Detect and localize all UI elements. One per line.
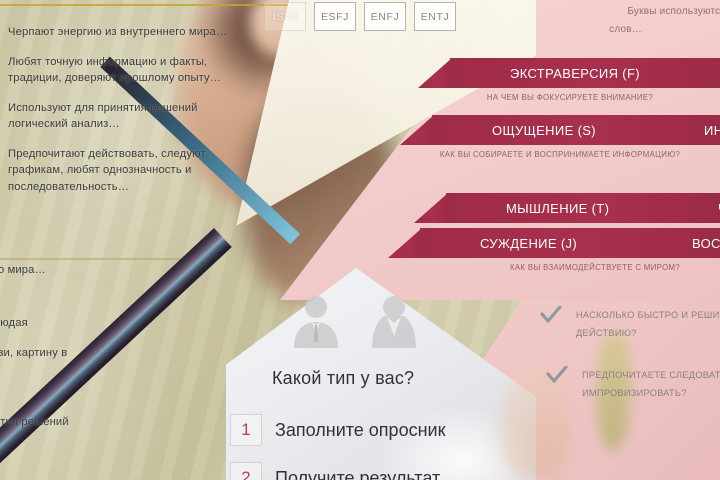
- checklist-line-1: НАСКОЛЬКО БЫСТРО И РЕШИТЕЛЬНО ВЫ ПЕРЕХОД…: [576, 310, 720, 320]
- top-divider-rule: [0, 4, 300, 6]
- dichotomy-subtitle: КАК ВЫ СОБИРАЕТЕ И ВОСПРИНИМАЕТЕ ИНФОРМА…: [0, 150, 720, 159]
- left-text-column-lower: …внешнего мира… …ию, наблюдая …аимосвязи…: [0, 262, 212, 480]
- check-icon: [540, 306, 562, 329]
- female-avatar-icon: [366, 292, 422, 353]
- checklist-line-2: ИМПРОВИЗИРОВАТЬ?: [582, 388, 687, 398]
- step-number: 1: [230, 414, 262, 446]
- dichotomy-bar: ЭКСТРАВЕРСИЯ (F) ИНТРОВЕРСИЯ (I): [450, 58, 720, 88]
- cta-step-1[interactable]: 1 Заполните опросник: [230, 414, 445, 446]
- dichotomy-left-label: МЫШЛЕНИЕ (T): [506, 201, 609, 216]
- dichotomy-row-sn: ОЩУЩЕНИЕ (S) ИНТУИЦИЯ (N) КАК ВЫ СОБИРАЕ…: [0, 115, 720, 159]
- mbti-type-box-group: ISTJ ESFJ ENFJ ENTJ: [264, 2, 456, 31]
- dichotomy-right-label: ВОСПРИЯТИЕ (P): [692, 236, 720, 251]
- left-text-line: …ию, наблюдая: [0, 315, 212, 332]
- check-icon: [546, 366, 568, 389]
- cta-title: Какой тип у вас?: [272, 368, 414, 389]
- mbti-type-box-entj[interactable]: ENTJ: [414, 2, 456, 31]
- dichotomy-right-label: ИНТУИЦИЯ (N): [704, 123, 720, 138]
- left-text-line: …се принятия решений: [0, 414, 212, 431]
- checklist-line-1: ПРЕДПОЧИТАЕТЕ СЛЕДОВАТЬ ПЛАНУ ИЛИ: [582, 370, 720, 380]
- dichotomy-subtitle: КАК ВЫ ВЗАИМОДЕЙСТВУЕТЕ С МИРОМ?: [0, 263, 720, 272]
- checklist-line-2: ДЕЙСТВИЮ?: [576, 328, 637, 338]
- dichotomy-left-label: ОЩУЩЕНИЕ (S): [492, 123, 596, 138]
- cta-step-2[interactable]: 2 Получите результат: [230, 462, 440, 480]
- mbti-type-box-enfj[interactable]: ENFJ: [364, 2, 406, 31]
- left-text-line: графикам, любят однозначность и: [8, 162, 260, 179]
- male-avatar-icon: [288, 292, 344, 353]
- left-text-line: …аимосвязи, картину в: [0, 345, 212, 362]
- header-line-1: Буквы используются: [627, 6, 720, 17]
- mbti-type-box-esfj[interactable]: ESFJ: [314, 2, 356, 31]
- dichotomy-left-label: СУЖДЕНИЕ (J): [480, 236, 577, 251]
- poster-canvas: Черпают энергию из внутреннего мира… Люб…: [0, 0, 720, 480]
- left-text-line: Черпают энергию из внутреннего мира…: [8, 24, 260, 41]
- step-label: Заполните опросник: [275, 420, 445, 441]
- avatar-group: [288, 292, 422, 353]
- checklist-text: ПРЕДПОЧИТАЕТЕ СЛЕДОВАТЬ ПЛАНУ ИЛИ ИМПРОВ…: [582, 365, 720, 401]
- dichotomy-subtitle: НА ЧЕМ ВЫ ФОКУСИРУЕТЕ ВНИМАНИЕ?: [0, 93, 720, 102]
- checklist-item-2: ПРЕДПОЧИТАЕТЕ СЛЕДОВАТЬ ПЛАНУ ИЛИ ИМПРОВ…: [546, 365, 720, 401]
- dichotomy-bar: ОЩУЩЕНИЕ (S) ИНТУИЦИЯ (N): [432, 115, 720, 145]
- dichotomy-row-ei: ЭКСТРАВЕРСИЯ (F) ИНТРОВЕРСИЯ (I) НА ЧЕМ …: [0, 58, 720, 102]
- step-number: 2: [230, 462, 262, 480]
- dichotomy-bar: МЫШЛЕНИЕ (T) ЧУВСТВО (F): [446, 193, 720, 223]
- dichotomy-left-label: ЭКСТРАВЕРСИЯ (F): [510, 66, 640, 81]
- header-line-2: слов…: [609, 24, 642, 35]
- step-label: Получите результат: [275, 468, 440, 480]
- checklist-item-1: НАСКОЛЬКО БЫСТРО И РЕШИТЕЛЬНО ВЫ ПЕРЕХОД…: [540, 305, 720, 341]
- dichotomy-row-jp: СУЖДЕНИЕ (J) ВОСПРИЯТИЕ (P) КАК ВЫ ВЗАИМ…: [0, 228, 720, 272]
- checklist-text: НАСКОЛЬКО БЫСТРО И РЕШИТЕЛЬНО ВЫ ПЕРЕХОД…: [576, 305, 720, 341]
- mbti-type-box-istj[interactable]: ISTJ: [264, 2, 306, 31]
- dichotomy-bar: СУЖДЕНИЕ (J) ВОСПРИЯТИЕ (P): [420, 228, 720, 258]
